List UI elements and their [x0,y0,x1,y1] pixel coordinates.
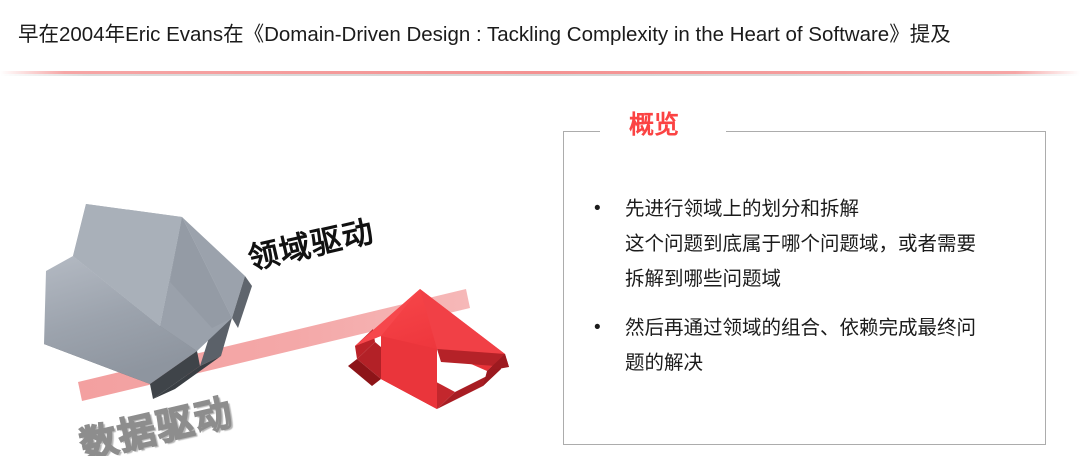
title-divider-shadow [0,74,1080,76]
list-item-line: 这个问题到底属于哪个问题域，或者需要 [625,227,1049,262]
list-item-line: 题的解决 [625,346,1049,381]
red-arrow-up-shape [348,289,509,409]
seesaw-arrows-diagram: 领域驱动 数据驱动 [0,86,545,456]
list-item: • 先进行领域上的划分和拆解 这个问题到底属于哪个问题域，或者需要 拆解到哪些问… [589,192,1049,297]
list-item: • 然后再通过领域的组合、依赖完成最终问 题的解决 [589,311,1049,381]
list-item-line: 然后再通过领域的组合、依赖完成最终问 [625,311,1049,346]
overview-bullet-list: • 先进行领域上的划分和拆解 这个问题到底属于哪个问题域，或者需要 拆解到哪些问… [589,192,1049,395]
list-item-line: 先进行领域上的划分和拆解 [625,192,1049,227]
bullet-marker-icon: • [594,194,604,224]
slide-canvas: 早在2004年Eric Evans在《Domain-Driven Design … [0,0,1080,456]
gray-arrow-down-shape [44,204,252,399]
overview-title: 概览 [617,108,691,142]
list-item-line: 拆解到哪些问题域 [625,262,1049,297]
list-item-text: 然后再通过领域的组合、依赖完成最终问 题的解决 [625,311,1049,381]
page-title: 早在2004年Eric Evans在《Domain-Driven Design … [18,20,1058,50]
bullet-marker-icon: • [594,313,604,343]
list-item-text: 先进行领域上的划分和拆解 这个问题到底属于哪个问题域，或者需要 拆解到哪些问题域 [625,192,1049,297]
